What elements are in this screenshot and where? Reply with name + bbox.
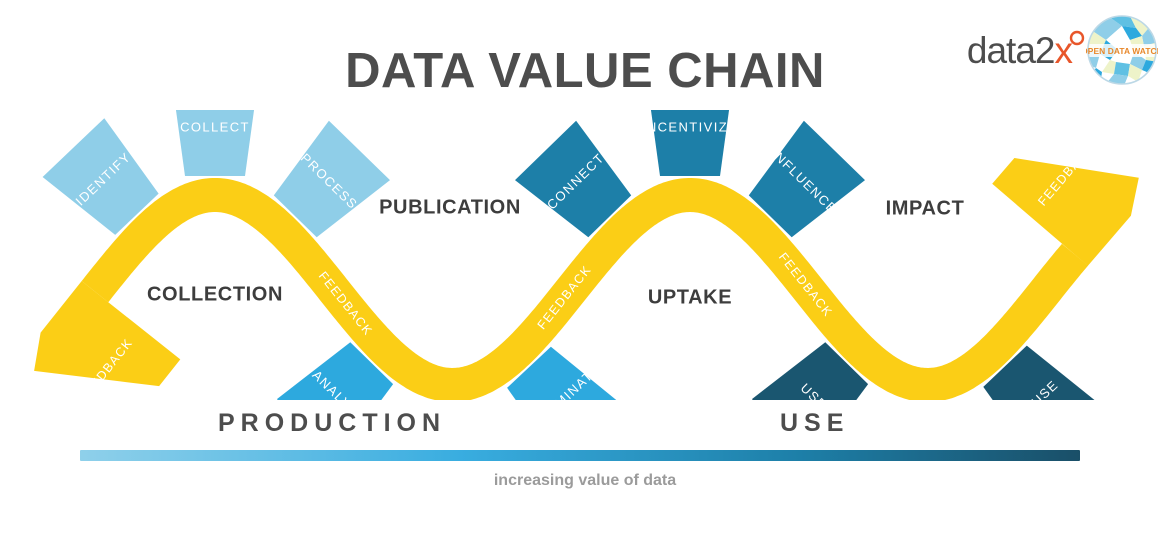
data2x-logo-text: data2 [967,30,1055,71]
open-data-watch-logo-text: OPEN DATA WATCH [1086,46,1158,56]
stage-label-publication: PUBLICATION [379,196,521,218]
open-data-watch-logo: OPEN DATA WATCH [1086,14,1158,86]
stage-label-impact: IMPACT [886,197,965,219]
axis-label-use: USE [780,409,849,438]
data-value-chain-wave: IDENTIFYCOLLECTPROCESSANALYZERELEASEDISS… [0,110,1170,400]
value-gradient-bar [80,450,1080,461]
stage-step-label-incentivize: INCENTIVIZE [642,120,738,135]
stage-label-uptake: UPTAKE [648,286,732,308]
logo-group: data2x [967,14,1158,86]
infographic-canvas: DATA VALUE CHAIN data2x [0,0,1170,537]
stage-step-label-collect: COLLECT [180,120,250,135]
axis-caption: increasing value of data [0,472,1170,490]
data2x-logo: data2x [967,32,1072,69]
data2x-circle-icon [1069,30,1085,46]
stage-segments: IDENTIFYCOLLECTPROCESSANALYZERELEASEDISS… [43,110,1100,400]
stage-label-collection: COLLECTION [147,283,283,305]
axis-label-production: PRODUCTION [218,409,446,438]
